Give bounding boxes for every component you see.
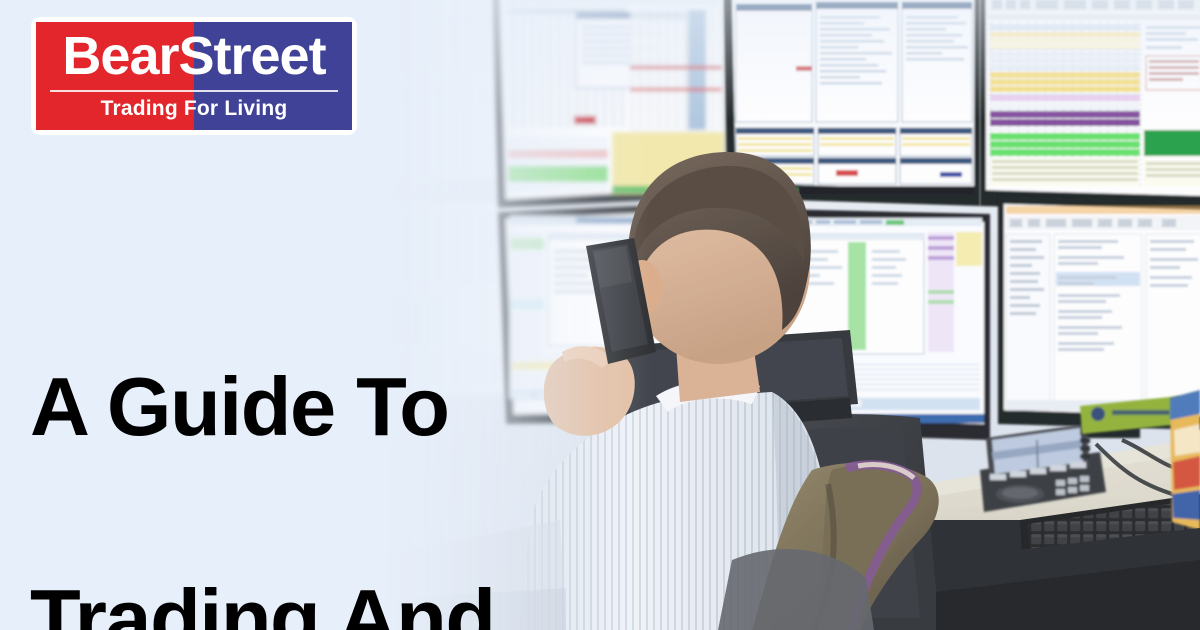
logo-inner: BearStreet Trading For Living xyxy=(36,22,352,130)
headline-line-1: A Guide To xyxy=(30,354,790,460)
social-card: BearStreet Trading For Living A Guide To… xyxy=(0,0,1200,630)
brand-logo[interactable]: BearStreet Trading For Living xyxy=(31,17,357,135)
page-title: A Guide To Trading And Trading Desks xyxy=(30,248,790,630)
logo-tagline: Trading For Living xyxy=(36,94,352,124)
logo-wordmark: BearStreet xyxy=(36,24,352,88)
headline-line-2: Trading And xyxy=(30,566,790,630)
logo-divider-rule xyxy=(50,90,338,92)
